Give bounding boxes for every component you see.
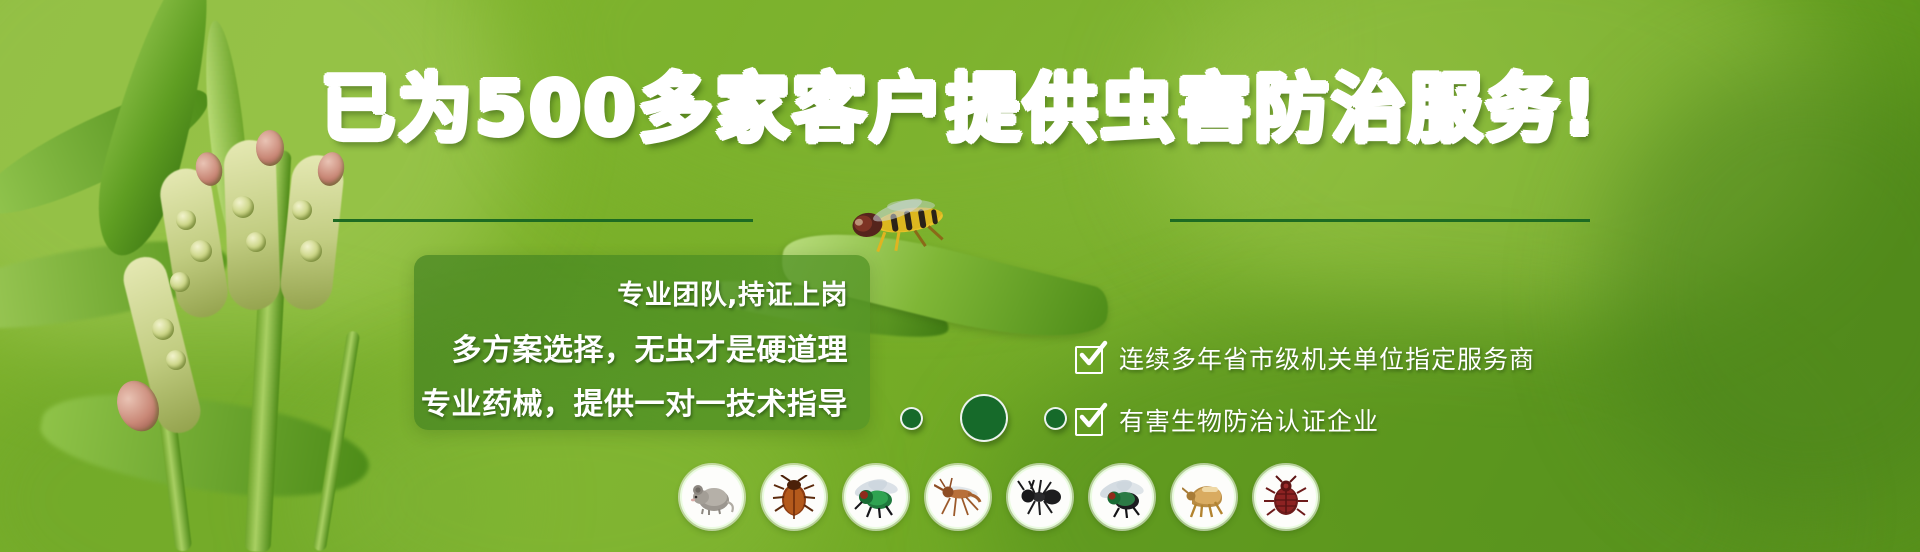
decorative-dots: [0, 198, 1920, 242]
checklist-item: 有害生物防治认证企业: [1075, 402, 1535, 438]
flower-bud: [166, 350, 186, 370]
small-dot: [900, 407, 923, 430]
headline: 已为500多家客户提供虫害防治服务!: [0, 72, 1920, 146]
checklist-item: 连续多年省市级机关单位指定服务商: [1075, 340, 1535, 376]
flower-bud: [315, 150, 348, 189]
small-dot: [1044, 407, 1067, 430]
flea-icon[interactable]: [1172, 465, 1236, 529]
bedbug-icon[interactable]: [1254, 465, 1318, 529]
flower-bud: [152, 318, 174, 340]
cockroach-icon[interactable]: [762, 465, 826, 529]
checkbox-checked-icon: [1075, 343, 1105, 373]
credentials-checklist: 连续多年省市级机关单位指定服务商 有害生物防治认证企业: [1075, 340, 1535, 464]
flower-bud: [170, 272, 190, 292]
checkbox-checked-icon: [1075, 405, 1105, 435]
checklist-item-label: 连续多年省市级机关单位指定服务商: [1119, 340, 1535, 376]
leaf-shape: [0, 229, 233, 340]
mouse-icon[interactable]: [680, 465, 744, 529]
stem-shape: [145, 300, 193, 552]
background-blur-blob: [1150, 0, 1850, 330]
green-fly-icon[interactable]: [844, 465, 908, 529]
promo-banner: 已为500多家客户提供虫害防治服务! 专业团队,持证上岗 多方案选择，无虫才是硬…: [0, 0, 1920, 552]
panel-line-3: 专业药械，提供一对一技术指导: [421, 379, 848, 423]
pest-icon-row: [680, 465, 1318, 529]
flower-bud: [110, 374, 167, 437]
flower-spikelet: [119, 252, 205, 437]
flower-spikelet: [157, 165, 232, 321]
panel-line-2: 多方案选择，无虫才是硬道理: [452, 325, 849, 369]
ant-icon[interactable]: [1008, 465, 1072, 529]
mosquito-icon[interactable]: [926, 465, 990, 529]
large-dot: [960, 394, 1008, 442]
feature-panel: 专业团队,持证上岗 多方案选择，无虫才是硬道理 专业药械，提供一对一技术指导: [414, 255, 870, 430]
panel-line-1: 专业团队,持证上岗: [617, 273, 848, 312]
headline-text: 已为500多家客户提供虫害防治服务!: [321, 66, 1599, 152]
leaf-shape: [35, 372, 376, 518]
stem-shape: [313, 330, 361, 551]
checklist-item-label: 有害生物防治认证企业: [1119, 402, 1379, 438]
flower-bud: [192, 149, 225, 188]
fly-icon[interactable]: [1090, 465, 1154, 529]
flower-bud: [300, 240, 322, 262]
flower-bud: [190, 240, 212, 262]
